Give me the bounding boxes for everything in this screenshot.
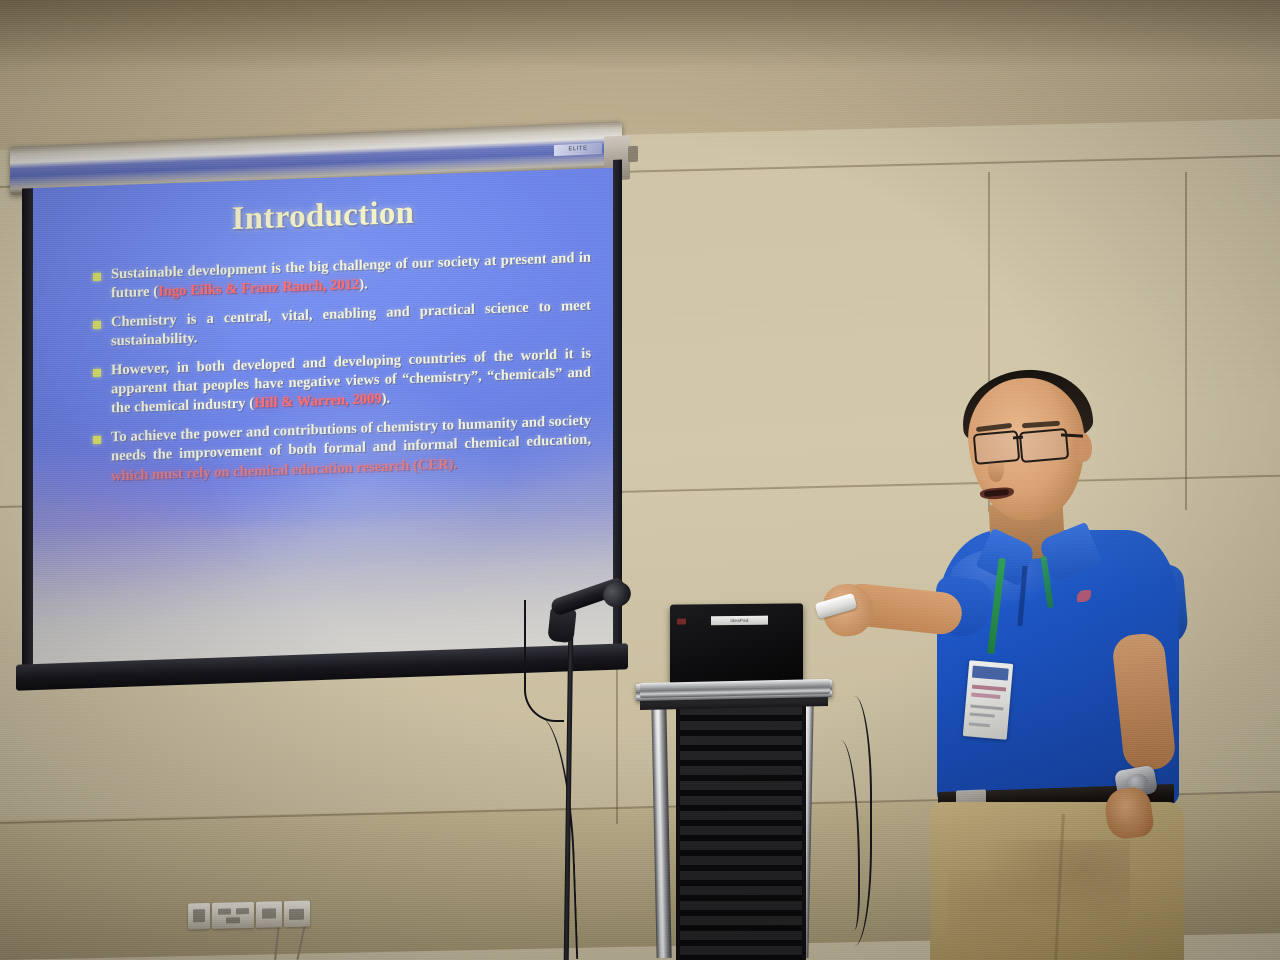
outlet-socket-4[interactable]	[284, 901, 310, 928]
bullet-main-text-4: To achieve the power and contributions o…	[111, 412, 591, 464]
outlet-slot	[262, 908, 276, 918]
outlet-slot	[218, 908, 231, 914]
bullet-text-3: However, in both developed and developin…	[111, 344, 591, 419]
bullet-square-icon	[93, 273, 101, 281]
outlet-slot	[193, 909, 205, 922]
slide-bullet-list: Sustainable development is the big chall…	[93, 249, 591, 496]
bullet-square-icon	[93, 368, 101, 376]
badge-text-line	[971, 693, 1000, 700]
badge-text-line	[969, 722, 990, 727]
bullet-tail-1: ).	[359, 277, 368, 293]
bullet-main-text-2: Chemistry is a central, vital, enabling …	[111, 297, 591, 349]
screen-fabric-frame: Introduction Sustainable development is …	[22, 160, 622, 677]
screen-wall-bracket	[628, 146, 638, 162]
bullet-text-2: Chemistry is a central, vital, enabling …	[111, 296, 591, 352]
slide-title: Introduction	[33, 188, 613, 245]
presenter-person	[830, 370, 1230, 960]
bullet-citation-3: Hill & Warren, 2009	[254, 391, 382, 411]
conference-badge	[963, 660, 1013, 740]
slide-bullet-3: However, in both developed and developin…	[93, 344, 591, 420]
bullet-square-icon	[93, 436, 101, 444]
projection-screen: ELITE Introduction Sustainable developme…	[8, 128, 630, 678]
projected-slide: Introduction Sustainable development is …	[33, 168, 613, 674]
slide-bullet-2: Chemistry is a central, vital, enabling …	[93, 296, 591, 352]
outlet-socket-3[interactable]	[256, 901, 282, 928]
slide-bullet-1: Sustainable development is the big chall…	[93, 249, 591, 305]
bullet-tail-3: ).	[382, 391, 391, 407]
laptop-brand-sticker: IdeaPad	[711, 616, 768, 626]
podium-slatted-front	[676, 706, 806, 960]
outlet-socket-2[interactable]	[212, 902, 254, 929]
presentation-photo-scene: ELITE Introduction Sustainable developme…	[0, 0, 1280, 960]
screen-brand-logo: ELITE	[554, 143, 602, 156]
presenter-nose	[988, 458, 1004, 482]
badge-text-line	[970, 712, 995, 717]
laptop-lid[interactable]: IdeaPad	[670, 603, 803, 684]
screen-border-left	[22, 188, 33, 680]
slide-bullet-4: To achieve the power and contributions o…	[93, 411, 591, 487]
outlet-slot	[289, 909, 304, 920]
wall-power-outlet-bank[interactable]	[188, 896, 312, 933]
badge-header-band	[972, 666, 1009, 681]
podium-rail-left	[651, 706, 671, 958]
bullet-citation-1: Ingo Eilks & Franz Rauch, 2012	[158, 277, 359, 300]
outlet-slot	[226, 917, 240, 923]
outlet-slot	[236, 908, 249, 914]
trousers-fold-highlight	[948, 870, 1068, 950]
bullet-text-1: Sustainable development is the big chall…	[111, 249, 591, 305]
laptop-hinge-marker	[677, 619, 686, 625]
badge-text-line	[972, 685, 1006, 692]
bullet-square-icon	[93, 321, 101, 329]
badge-text-line	[970, 704, 1003, 710]
bullet-text-4: To achieve the power and contributions o…	[111, 411, 591, 486]
outlet-switch-1[interactable]	[188, 903, 210, 930]
